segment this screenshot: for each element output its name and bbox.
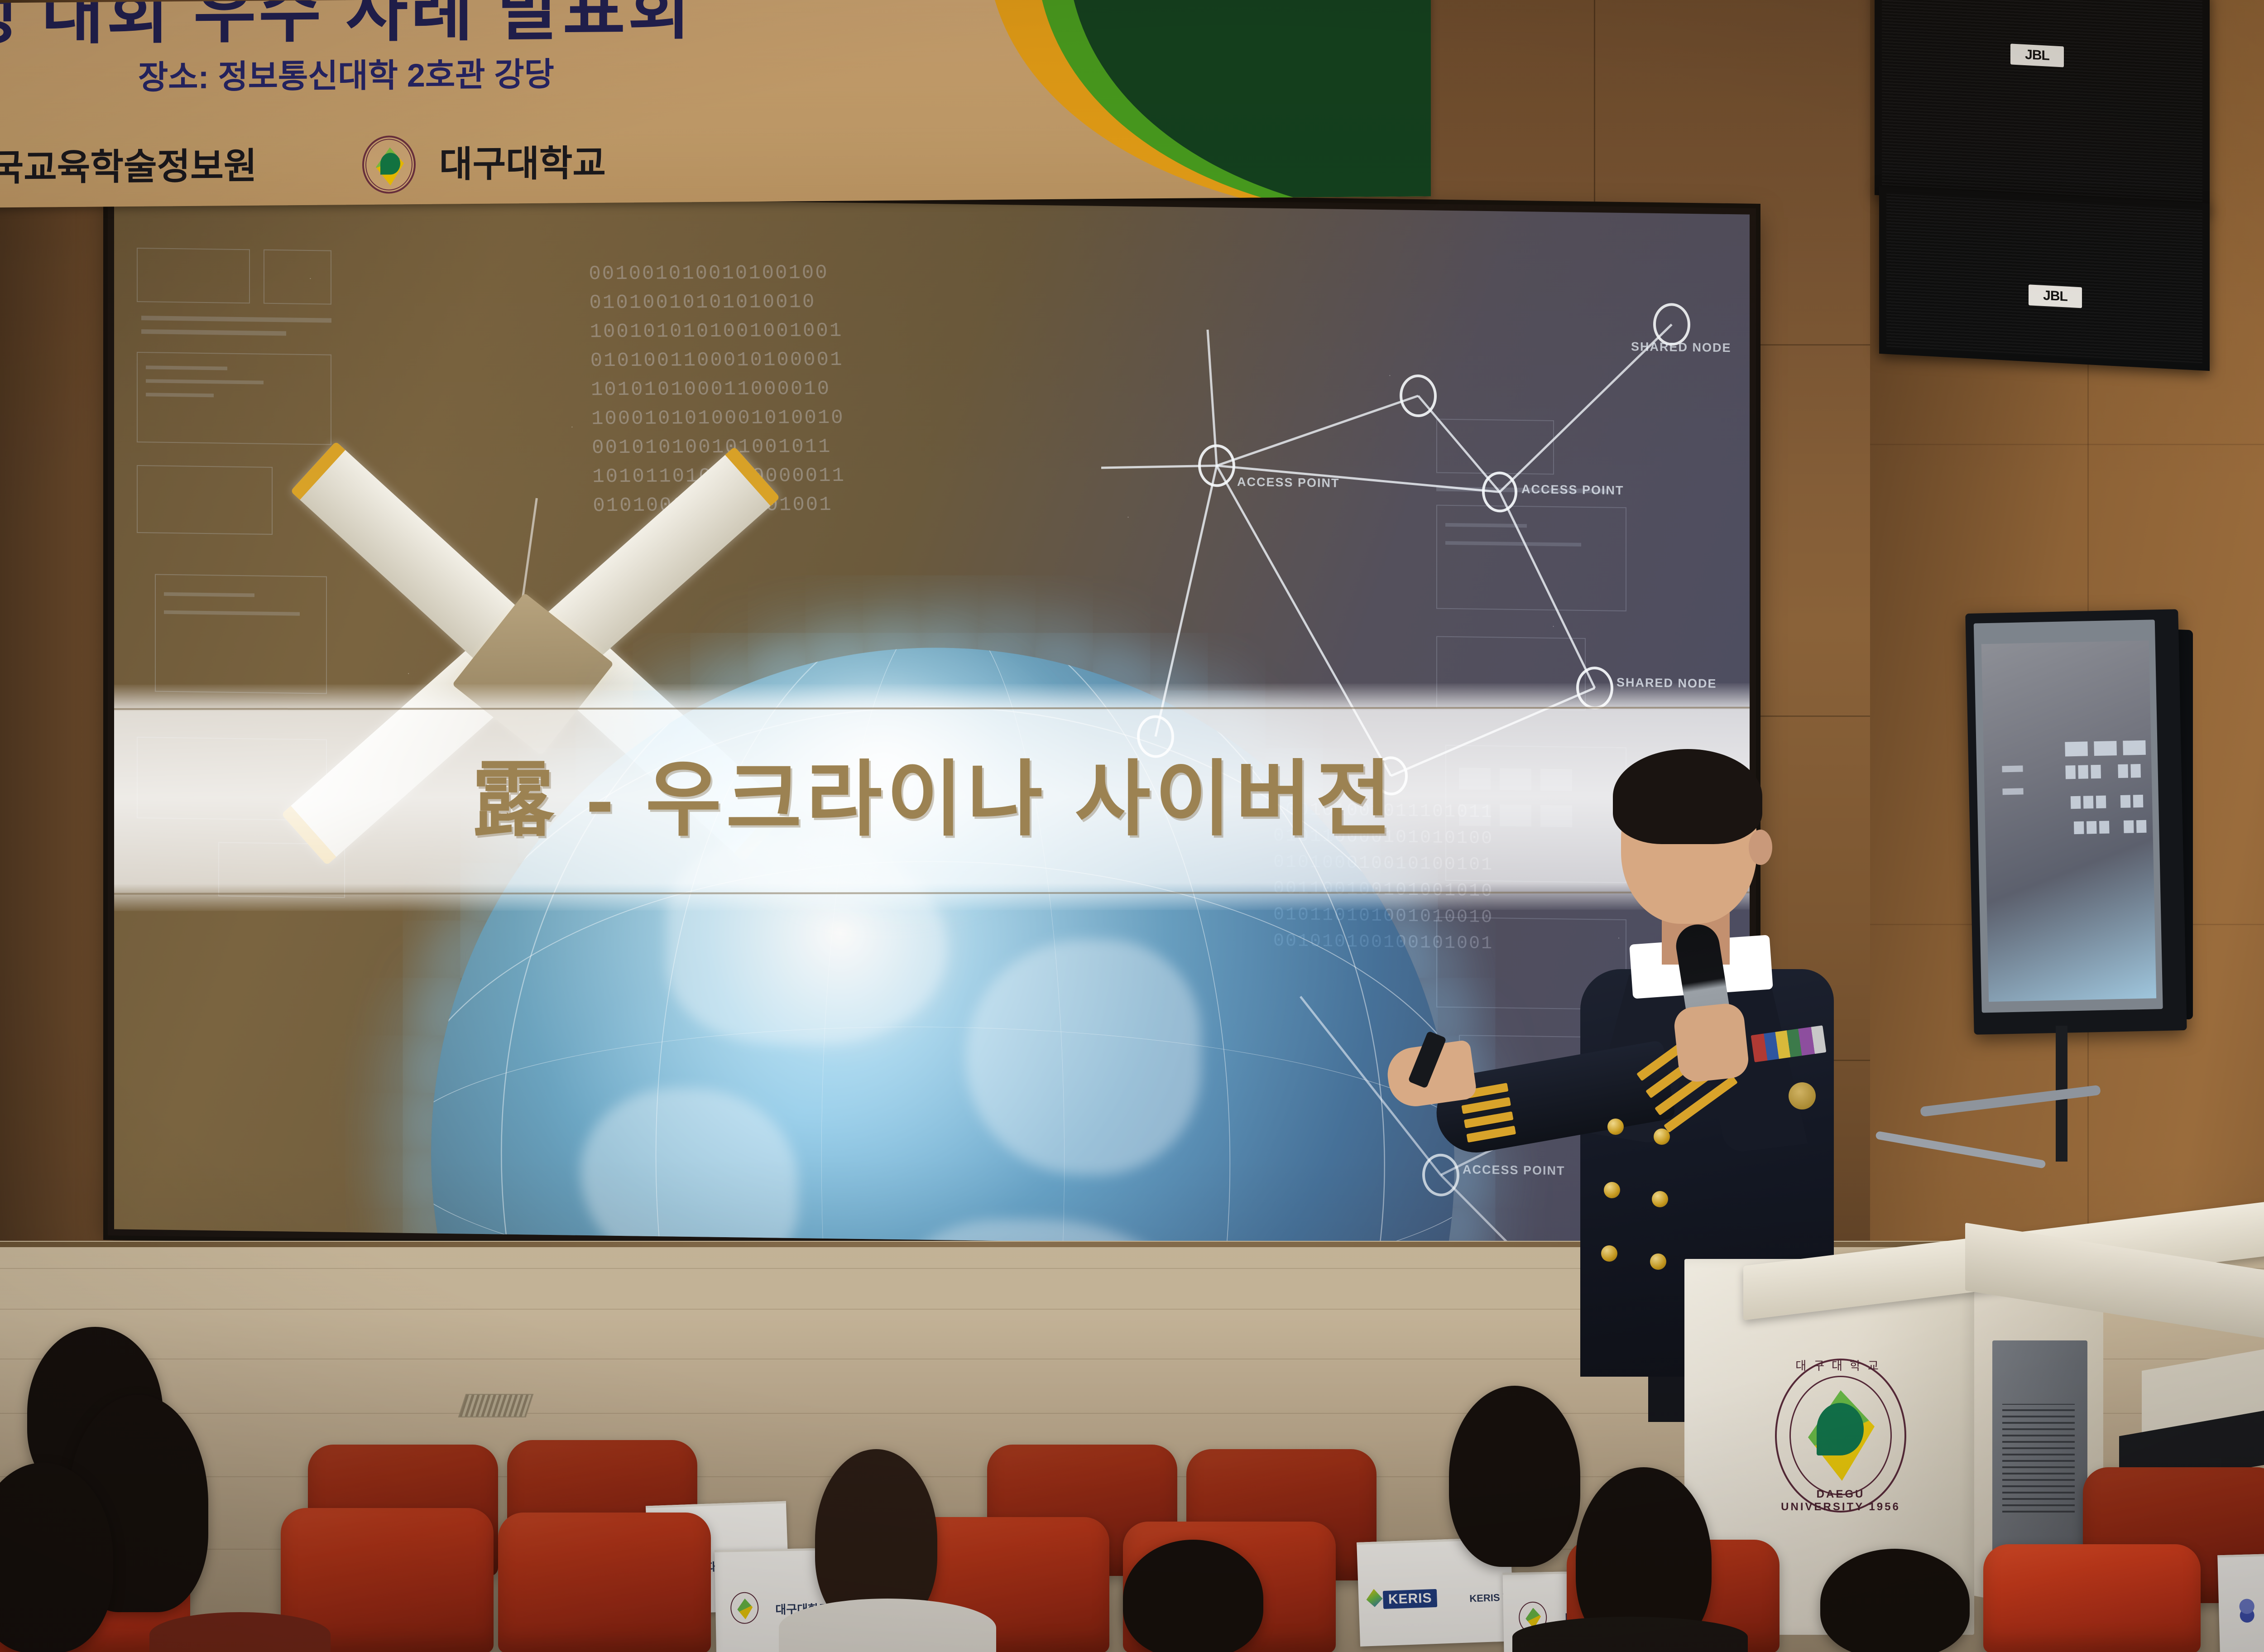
daegu-university-logo-banner bbox=[362, 135, 416, 194]
daegu-university-icon bbox=[730, 1592, 759, 1624]
banner-org-keris: 한국교육학술정보원 bbox=[0, 137, 257, 192]
floor-vent bbox=[458, 1394, 534, 1417]
uniform-button-5 bbox=[1601, 1245, 1617, 1262]
jbl-logo-upper: JBL bbox=[2010, 43, 2064, 67]
keris-mark-icon bbox=[1366, 1589, 1383, 1607]
presenter-insignia bbox=[1789, 1082, 1816, 1109]
monitor-screen bbox=[1981, 641, 2156, 1002]
presenter-ear bbox=[1749, 830, 1772, 865]
jbl-speaker-upper: JBL bbox=[1875, 0, 2210, 212]
presenter-hair bbox=[1613, 749, 1762, 844]
jbl-speaker-lower: JBL bbox=[1879, 186, 2210, 371]
lecture-hall-photo: JBL JBL bbox=[0, 0, 2264, 1652]
event-banner: 행 대회 우수 사례 발표회 00 장소: 정보통신대학 2호관 강당 한국교육… bbox=[0, 0, 1431, 208]
node-label-access-point-2: ACCESS POINT bbox=[1521, 482, 1624, 498]
confidence-monitor bbox=[1965, 609, 2187, 1035]
seat bbox=[1983, 1544, 2201, 1652]
jbl-logo-lower: JBL bbox=[2029, 284, 2082, 308]
slide-title: 露 - 우크라이나 사이버전 bbox=[472, 732, 1396, 852]
uniform-button-2 bbox=[1654, 1129, 1670, 1145]
seat-paper-blue-2: 대구대학교 bbox=[2217, 1551, 2264, 1652]
banner-swoosh-decoration bbox=[756, 0, 1431, 208]
uniform-button-4 bbox=[1652, 1191, 1668, 1207]
banner-org-daegu: 대구대학교 bbox=[439, 134, 606, 188]
podium-logo-korean-text: 대구대학교 bbox=[1775, 1357, 1906, 1373]
uniform-button-1 bbox=[1607, 1119, 1624, 1135]
audience-shoulders bbox=[779, 1599, 996, 1652]
seat bbox=[498, 1513, 711, 1652]
blue-emblem-icon bbox=[2234, 1595, 2261, 1624]
uniform-button-3 bbox=[1604, 1182, 1620, 1198]
keris-logo-label: KERIS bbox=[1383, 1589, 1437, 1609]
node-label-shared-node-1: SHARED NODE bbox=[1631, 340, 1732, 355]
daegu-university-logo-podium: 대구대학교 DAEGU UNIVERSITY 1956 bbox=[1775, 1359, 1906, 1513]
audience-head bbox=[1820, 1549, 1970, 1652]
banner-location-label: 장소: 정보통신대학 2호관 강당 bbox=[138, 48, 554, 98]
uniform-button-6 bbox=[1650, 1253, 1666, 1270]
presenter-mic-hand bbox=[1673, 1002, 1750, 1083]
node-label-access-point-1: ACCESS POINT bbox=[1237, 475, 1340, 490]
audience-head bbox=[1123, 1540, 1263, 1652]
podium-logo-english-text: DAEGU UNIVERSITY 1956 bbox=[1775, 1488, 1906, 1513]
confidence-monitor-assembly bbox=[1970, 611, 2223, 1064]
monitor-bezel bbox=[1974, 619, 2163, 1013]
audience-head bbox=[1449, 1386, 1580, 1567]
equipment-vents bbox=[2002, 1404, 2075, 1513]
